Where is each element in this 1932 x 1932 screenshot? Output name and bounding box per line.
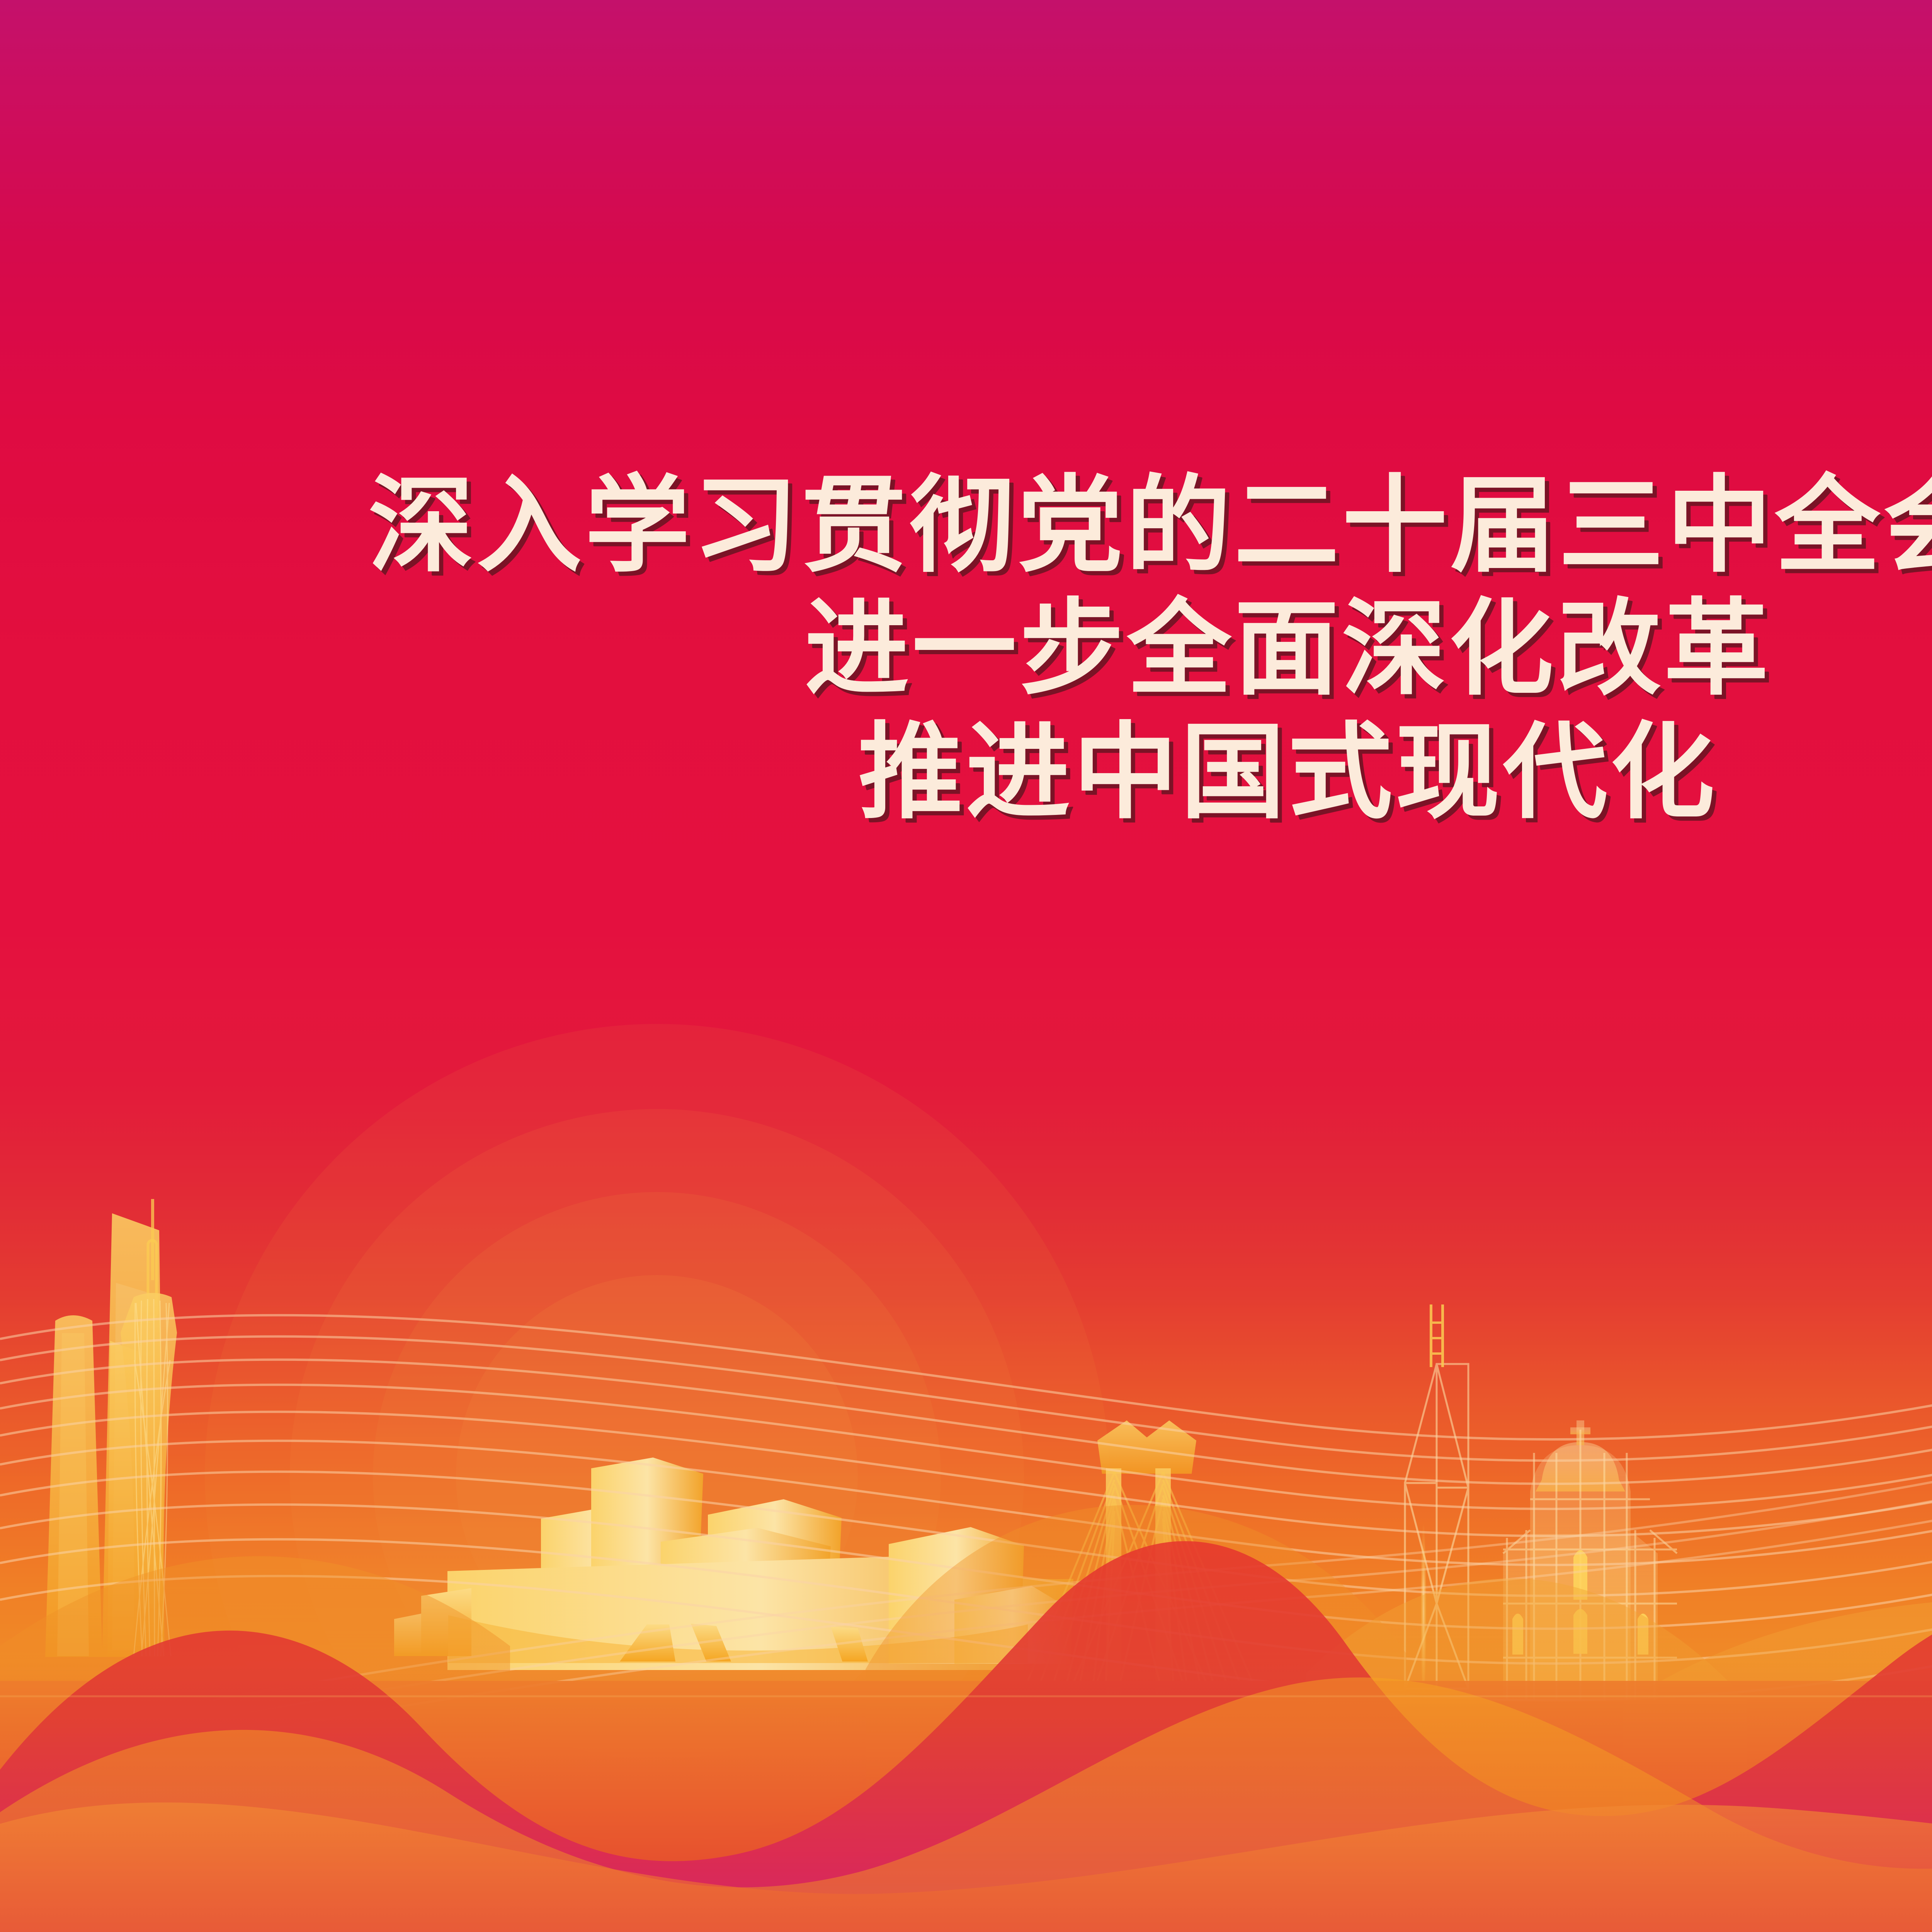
- wave-hills-layer: [0, 0, 1932, 1932]
- poster-canvas: 深入学习贯彻党的二十届三中全会精神 进一步全面深化改革 推进中国式现代化: [0, 0, 1932, 1932]
